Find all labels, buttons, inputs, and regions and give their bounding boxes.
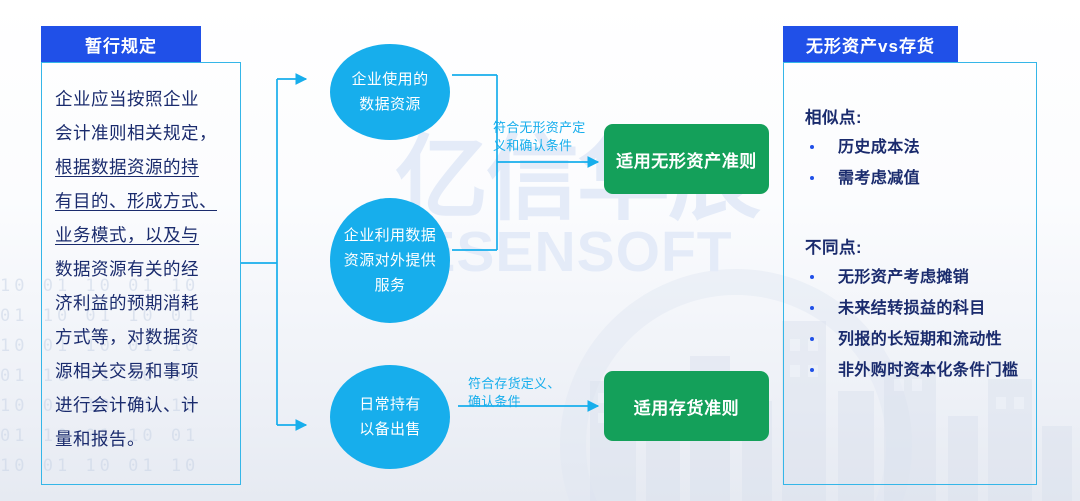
bullet-icon	[810, 176, 814, 180]
list-item: 需考虑减值	[805, 163, 1041, 194]
left-line: 数据资源有关的经	[55, 252, 231, 286]
similar-title: 相似点:	[805, 104, 1041, 128]
flow-circle-held-for-sale[interactable]: 日常持有以备出售	[330, 365, 450, 469]
list-item-label: 非外购时资本化条件门槛	[838, 362, 1018, 379]
bullet-icon	[810, 368, 814, 372]
left-line: 量和报告。	[55, 422, 231, 456]
infographic-canvas: 10 01 10 01 1001 10 01 10 0110 01 10 01 …	[0, 0, 1080, 501]
bullet-icon	[810, 337, 814, 341]
left-line: 进行会计确认、计	[55, 388, 231, 422]
list-item: 非外购时资本化条件门槛	[805, 355, 1041, 386]
left-line: 业务模式，以及与	[55, 218, 231, 252]
list-item: 未来结转损益的科目	[805, 293, 1041, 324]
flow-circle-enterprise-used-data[interactable]: 企业使用的数据资源	[330, 44, 450, 140]
section-spacer	[805, 194, 1041, 234]
left-line: 根据数据资源的持	[55, 150, 231, 184]
left-line: 方式等，对数据资	[55, 320, 231, 354]
list-item-label: 列报的长短期和流动性	[838, 331, 1002, 348]
left-line: 会计准则相关规定，	[55, 116, 231, 150]
list-item: 无形资产考虑摊销	[805, 262, 1041, 293]
different-title: 不同点:	[805, 234, 1041, 258]
bullet-icon	[810, 306, 814, 310]
list-item: 历史成本法	[805, 132, 1041, 163]
result-box-inventory-standard[interactable]: 适用存货准则	[604, 371, 769, 441]
bullet-icon	[810, 145, 814, 149]
flow-circle-external-service[interactable]: 企业利用数据资源对外提供服务	[330, 198, 450, 323]
left-panel-tab[interactable]: 暂行规定	[41, 26, 201, 62]
edge-label-inventory-criteria: 符合存货定义、确认条件	[468, 375, 588, 411]
bullet-icon	[810, 275, 814, 279]
list-item: 列报的长短期和流动性	[805, 324, 1041, 355]
left-panel-body: 企业应当按照企业 会计准则相关规定， 根据数据资源的持 有目的、形成方式、 业务…	[55, 82, 231, 456]
left-line: 有目的、形成方式、	[55, 184, 231, 218]
right-panel-tab[interactable]: 无形资产vs存货	[783, 26, 958, 62]
right-panel-body: 相似点: 历史成本法 需考虑减值 不同点: 无形资产考虑摊销 未来结转损益的科目	[805, 104, 1041, 386]
similar-list: 历史成本法 需考虑减值	[805, 132, 1041, 194]
left-line: 济利益的预期消耗	[55, 286, 231, 320]
left-line: 企业应当按照企业	[55, 82, 231, 116]
list-item-label: 历史成本法	[838, 139, 920, 156]
list-item-label: 无形资产考虑摊销	[838, 269, 969, 286]
list-item-label: 需考虑减值	[838, 170, 920, 187]
list-item-label: 未来结转损益的科目	[838, 300, 986, 317]
left-line: 源相关交易和事项	[55, 354, 231, 388]
edge-label-intangible-criteria: 符合无形资产定义和确认条件	[493, 119, 613, 155]
different-list: 无形资产考虑摊销 未来结转损益的科目 列报的长短期和流动性 非外购时资本化条件门…	[805, 262, 1041, 386]
result-box-intangible-standard[interactable]: 适用无形资产准则	[604, 124, 769, 194]
